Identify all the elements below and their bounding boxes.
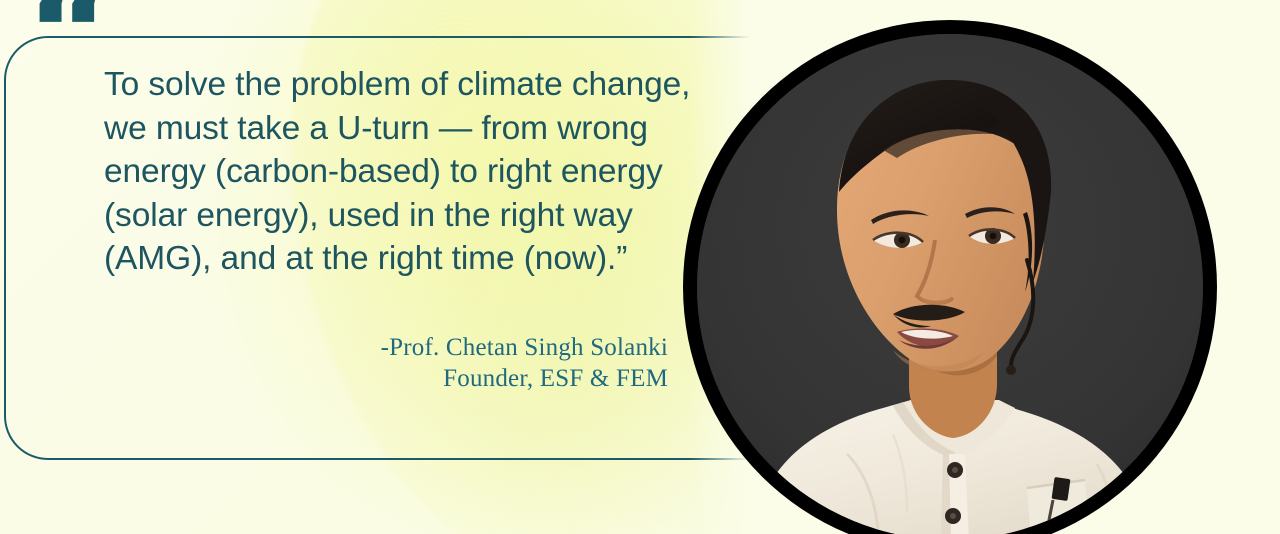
opening-quote-icon: “ [26, 0, 111, 98]
attribution-role: Founder, ESF & FEM [160, 363, 668, 395]
attribution-name: -Prof. Chetan Singh Solanki [160, 333, 668, 363]
portrait-ring [683, 20, 1217, 534]
portrait-photo [697, 34, 1203, 534]
quote-text: To solve the problem of climate change, … [104, 63, 694, 281]
attribution: -Prof. Chetan Singh Solanki Founder, ESF… [160, 333, 668, 395]
portrait-illustration [697, 34, 1203, 534]
quote-graphic: “ To solve the problem of climate change… [0, 0, 1280, 534]
